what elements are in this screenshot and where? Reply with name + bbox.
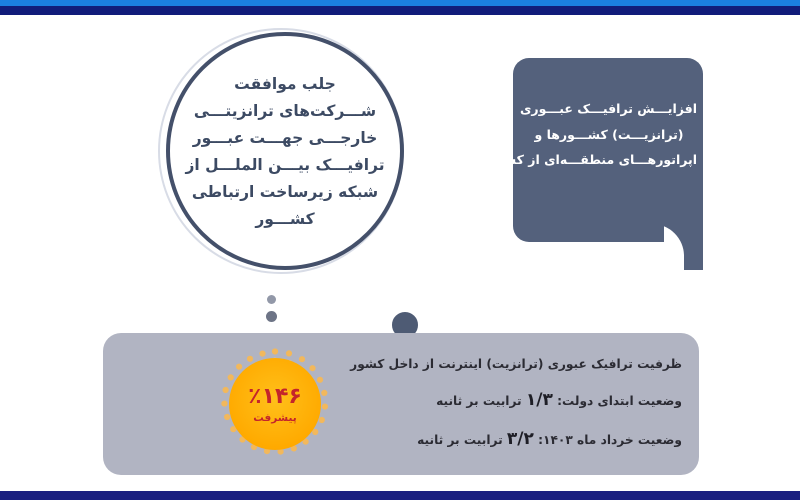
stat-2-number: ۱/۳ [526, 390, 553, 410]
stat-line-1: ظرفیت ترافیک عبوری (ترانزیت) اینترنت از … [362, 358, 682, 370]
circle-line-2: شـــرکت‌های ترانزیتـــی [194, 99, 376, 124]
circle-line-6: کشـــور [255, 207, 314, 232]
circle-line-4: ترافیـــک بیـــن الملـــل از [186, 153, 385, 178]
progress-badge: ٪۱۴۶ پیشرفت [218, 347, 332, 461]
callout-line-3: اپراتورهـــای منطقـــه‌ای از کشور [521, 147, 697, 173]
badge-value: ٪۱۴۶ [248, 384, 302, 409]
headline-circle: جلب موافقت شـــرکت‌های ترانزیتـــی خارجـ… [158, 28, 410, 280]
circle-line-5: شبکه زیرساخت ارتباطی [192, 180, 378, 205]
badge-label: پیشرفت [253, 412, 296, 424]
stat-3-suffix: ترابیت بر ثانیه [417, 433, 503, 447]
stat-1-prefix: ظرفیت ترافیک عبوری (ترانزیت) اینترنت از … [350, 357, 682, 371]
callout-text-block: افزایـــش ترافیـــک عبـــوری (ترانزیـــت… [521, 96, 697, 173]
callout-bubble-tail [664, 226, 703, 270]
stat-line-3: وضعیت خرداد ماه ۱۴۰۳: ۳/۲ ترابیت بر ثانی… [362, 431, 682, 448]
callout-line-1: افزایـــش ترافیـــک عبـــوری [521, 96, 697, 122]
stat-2-suffix: ترابیت بر ثانیه [436, 394, 522, 408]
callout-line-2: (ترانزیـــت) کشـــورها و [521, 122, 697, 148]
circle-line-3: خارجـــی جهـــت عبـــور [193, 126, 378, 151]
stat-2-prefix: وضعیت ابتدای دولت: [557, 394, 682, 408]
connector-dot-small-1 [267, 295, 276, 304]
stat-3-number: ۳/۲ [507, 429, 534, 449]
connector-dot-small-2 [266, 311, 277, 322]
stats-text-block: ظرفیت ترافیک عبوری (ترانزیت) اینترنت از … [362, 358, 682, 448]
badge-core: ٪۱۴۶ پیشرفت [229, 358, 321, 450]
stat-line-2: وضعیت ابتدای دولت: ۱/۳ ترابیت بر ثانیه [362, 392, 682, 409]
circle-text-block: جلب موافقت شـــرکت‌های ترانزیتـــی خارجـ… [172, 52, 398, 252]
top-navy-strip [0, 6, 800, 15]
bottom-navy-strip [0, 491, 800, 500]
circle-line-1: جلب موافقت [234, 72, 336, 97]
stat-3-prefix: وضعیت خرداد ماه ۱۴۰۳: [538, 433, 682, 447]
infographic-canvas: جلب موافقت شـــرکت‌های ترانزیتـــی خارجـ… [0, 0, 800, 500]
